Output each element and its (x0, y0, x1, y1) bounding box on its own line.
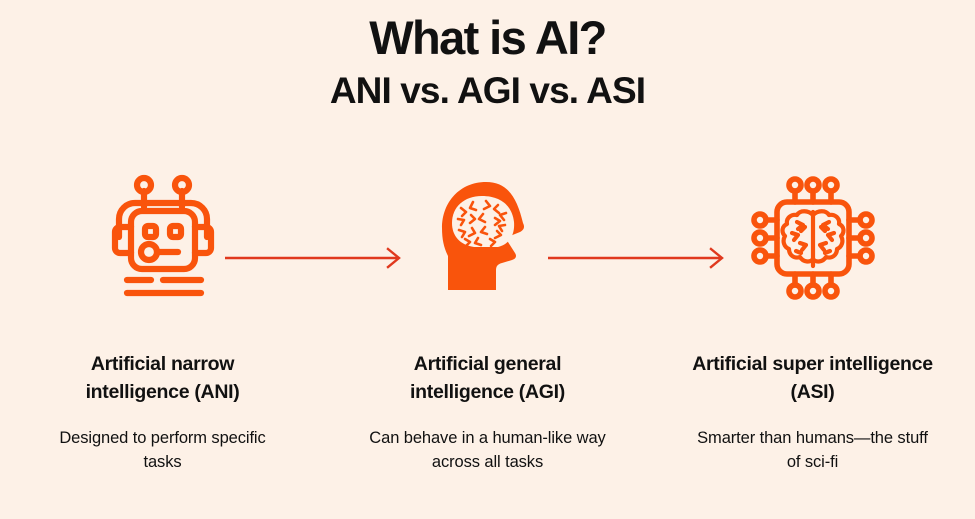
agi-icon-container (408, 168, 568, 308)
head-brain-icon (434, 178, 542, 298)
column-asi: Artificial super intelligence (ASI) Smar… (650, 168, 975, 474)
infographic-canvas: What is AI? ANI vs. AGI vs. ASI (0, 0, 975, 519)
agi-title: Artificial general intelligence (AGI) (363, 308, 613, 406)
page-subtitle: ANI vs. AGI vs. ASI (0, 62, 975, 111)
page-title: What is AI? (0, 0, 975, 62)
asi-icon-container (733, 168, 893, 308)
chip-brain-icon (750, 175, 876, 301)
concept-columns: Artificial narrow intelligence (ANI) Des… (0, 168, 975, 474)
asi-title: Artificial super intelligence (ASI) (688, 308, 938, 406)
ani-icon-container (83, 168, 243, 308)
robot-icon (111, 173, 215, 303)
ani-title: Artificial narrow intelligence (ANI) (38, 308, 288, 406)
column-ani: Artificial narrow intelligence (ANI) Des… (0, 168, 325, 474)
agi-description: Can behave in a human-like way across al… (368, 406, 608, 474)
header: What is AI? ANI vs. AGI vs. ASI (0, 0, 975, 111)
asi-description: Smarter than humans—the stuff of sci-fi (693, 406, 933, 474)
ani-description: Designed to perform specific tasks (43, 406, 283, 474)
column-agi: Artificial general intelligence (AGI) Ca… (325, 168, 650, 474)
